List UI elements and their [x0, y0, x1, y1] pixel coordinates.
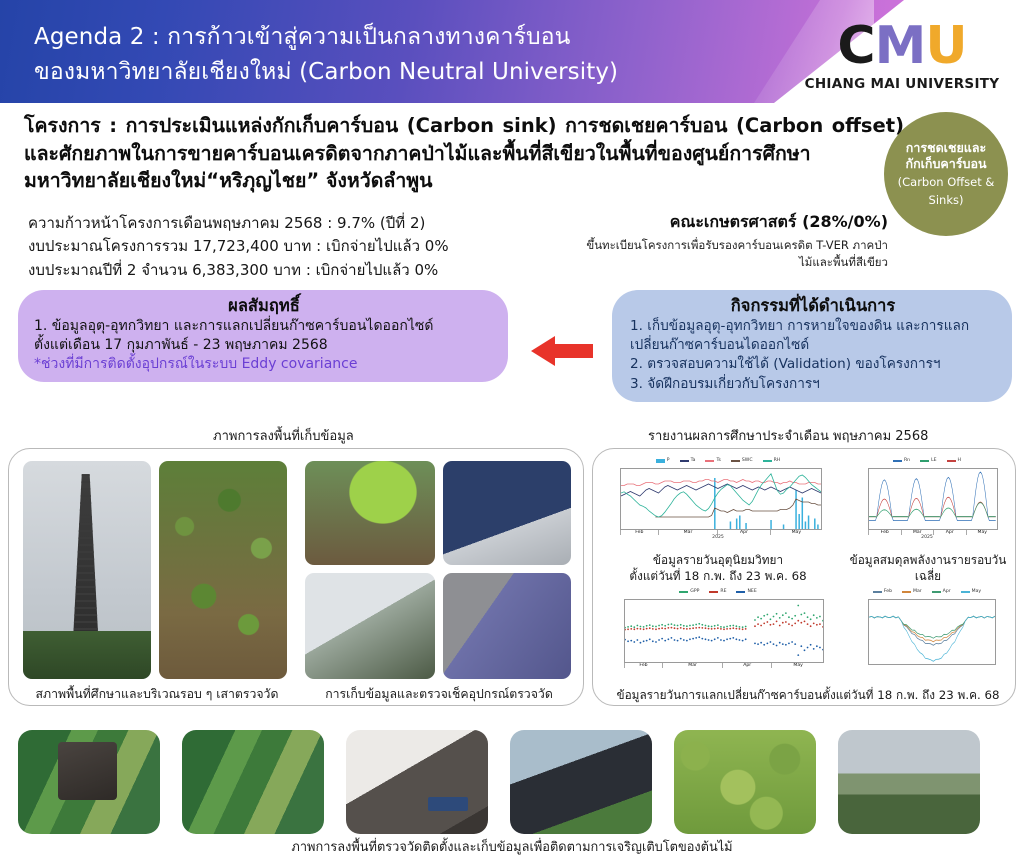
chart4-plot-area	[868, 599, 996, 665]
legend-item-mar: Mar	[902, 589, 922, 594]
photo-laptop-data-logging	[443, 461, 571, 565]
legend-item-may: May	[961, 589, 982, 594]
chart-co2-flux-diurnal: Feb Mar Apr May	[846, 586, 1008, 686]
badge-line-2: กักเก็บคาร์บอน	[906, 156, 987, 173]
chart4-legend: Feb Mar Apr May	[846, 586, 1008, 597]
chart1-caption-line-2: ตั้งแต่วันที่ 18 ก.พ. ถึง 23 พ.ค. 68	[600, 569, 836, 585]
left-panel-caption: ภาพการลงพื้นที่เก็บข้อมูล	[213, 425, 354, 446]
legend-item-feb: Feb	[873, 589, 892, 594]
cmu-logo-subtitle: CHIANG MAI UNIVERSITY	[802, 76, 1002, 92]
photo-eddy-flux-tower	[23, 461, 151, 679]
legend-item-rn: Rn	[893, 458, 910, 463]
legend-item-gpp: GPP	[679, 589, 699, 594]
left-photo-caption-a: สภาพพื้นที่ศึกษาและบริเวณรอบ ๆ เสาตรวจวั…	[15, 685, 299, 704]
photo-solar-panel	[443, 573, 571, 679]
activity-box-line-3: 2. ตรวจสอบความใช้ได้ (Validation) ของโคร…	[630, 355, 996, 374]
legend-item-apr: Apr	[932, 589, 951, 594]
activity-box-heading: กิจกรรมที่ได้ดำเนินการ	[630, 296, 996, 317]
chart-carbon-exchange: GPP RE NEE Feb Mar Apr May	[600, 586, 836, 686]
photo-field-instrument-case	[346, 730, 488, 834]
chart1-caption-line-1: ข้อมูลรายวันอุตุนิยมวิทยา	[600, 553, 836, 569]
header-title-line-2: ของมหาวิทยาลัยเชียงใหม่ (Carbon Neutral …	[34, 55, 794, 90]
page-title: Agenda 2 : การก้าวเข้าสู่ความเป็นกลางทาง…	[34, 20, 794, 90]
photo-field-station-umbrella	[305, 461, 435, 565]
progress-line-2: งบประมาณโครงการรวม 17,723,400 บาท : เบิก…	[28, 235, 508, 258]
legend-item-nee: NEE	[736, 589, 756, 594]
cmu-letter-u: U	[925, 20, 966, 72]
instrument-ports	[428, 797, 468, 812]
photo-green-steel-beam	[182, 730, 324, 834]
photo-forest-floor	[159, 461, 287, 679]
legend-item-h: H	[947, 458, 961, 463]
header-title-line-1: Agenda 2 : การก้าวเข้าสู่ความเป็นกลางทาง…	[34, 20, 794, 55]
chart2-plot-area	[868, 468, 998, 530]
activity-box: กิจกรรมที่ได้ดำเนินการ 1. เก็บข้อมูลอุตุ…	[612, 290, 1012, 402]
faculty-note-line-1: ขึ้นทะเบียนโครงการเพื่อรับรองคาร์บอนเครด…	[516, 237, 888, 254]
photo-technician-on-tower	[510, 730, 652, 834]
legend-item-ts: Ts	[705, 458, 720, 463]
faculty-note-line-2: ไม้และพื้นที่สีเขียว	[516, 254, 888, 271]
chart1-caption: ข้อมูลรายวันอุตุนิยมวิทยา ตั้งแต่วันที่ …	[600, 553, 836, 585]
faculty-title: คณะเกษตรศาสตร์ (28%/0%)	[516, 210, 888, 235]
legend-item-p: P	[656, 458, 670, 463]
progress-line-3: งบประมาณปีที่ 2 จำนวน 6,383,300 บาท : เบ…	[28, 259, 508, 282]
chart2-xlabel: 2025	[846, 535, 1008, 540]
left-photo-caption-b: การเก็บข้อมูลและตรวจเช็คอุปกรณ์ตรวจวัด	[303, 685, 575, 704]
project-progress-block: ความก้าวหน้าโครงการเดือนพฤษภาคม 2568 : 9…	[28, 212, 508, 282]
legend-item-re: RE	[709, 589, 726, 594]
badge-line-3: (Carbon Offset &	[898, 175, 995, 191]
chart3-plot-area	[624, 599, 824, 663]
chart1-plot-area	[620, 468, 822, 530]
left-arrow-icon	[531, 334, 593, 368]
photo-forest-canopy	[674, 730, 816, 834]
result-box-line-2: ตั้งแต่เดือน 17 กุมภาพันธ์ - 23 พฤษภาคม …	[34, 336, 494, 355]
field-photo-panel: สภาพพื้นที่ศึกษาและบริเวณรอบ ๆ เสาตรวจวั…	[8, 448, 584, 706]
chart-meteorology-daily: P Ta Ts SWC RH Feb Mar Apr May 2025	[600, 455, 836, 551]
activity-box-line-2: เปลี่ยนก๊าซคาร์บอนไดออกไซด์	[630, 336, 996, 355]
activity-box-line-1: 1. เก็บข้อมูลอุตุ-อุทกวิทยา การหายใจของด…	[630, 317, 996, 336]
bottom-strip-caption: ภาพการลงพื้นที่ตรวจวัดติดตั้งและเก็บข้อม…	[0, 836, 1024, 857]
activity-box-line-4: 3. จัดฝึกอบรมเกี่ยวกับโครงการฯ	[630, 375, 996, 394]
chart3-caption: ข้อมูลรายวันการแลกเปลี่ยนก๊าซคาร์บอนตั้ง…	[600, 688, 1016, 704]
legend-item-ta: Ta	[680, 458, 696, 463]
chart1-legend: P Ta Ts SWC RH	[600, 455, 836, 466]
right-panel-caption: รายงานผลการศึกษาประจำเดือน พฤษภาคม 2568	[648, 425, 928, 446]
cmu-logo: CMU CHIANG MAI UNIVERSITY	[802, 14, 1002, 92]
chart2-caption-line-1: ข้อมูลสมดุลพลังงานรายรอบวันเฉลี่ย	[840, 553, 1016, 585]
faculty-block: คณะเกษตรศาสตร์ (28%/0%) ขึ้นทะเบียนโครงก…	[516, 210, 888, 270]
project-title: โครงการ : การประเมินแหล่งกักเก็บคาร์บอน …	[24, 112, 904, 195]
tower-treeline	[23, 631, 151, 679]
legend-item-swc: SWC	[731, 458, 753, 463]
camera-trap-body	[58, 742, 118, 799]
legend-item-le: LE	[920, 458, 936, 463]
photo-misty-forest	[838, 730, 980, 834]
status-badge: การชดเชยและ กักเก็บคาร์บอน (Carbon Offse…	[884, 112, 1008, 236]
photo-camera-trap-on-tower	[18, 730, 160, 834]
cmu-letter-m: M	[875, 20, 926, 72]
result-box-heading: ผลสัมฤทธิ์	[34, 296, 494, 317]
result-box-line-3: *ช่วงที่มีการติดตั้งอุปกรณ์ในระบบ Eddy c…	[34, 355, 494, 374]
result-box: ผลสัมฤทธิ์ 1. ข้อมูลอุตุ-อุทกวิทยา และกา…	[18, 290, 508, 382]
faculty-note: ขึ้นทะเบียนโครงการเพื่อรับรองคาร์บอนเครด…	[516, 237, 888, 270]
chart3-legend: GPP RE NEE	[600, 586, 836, 597]
chart-energy-balance: Rn LE H Feb Mar Apr May 2025	[846, 455, 1008, 551]
progress-line-1: ความก้าวหน้าโครงการเดือนพฤษภาคม 2568 : 9…	[28, 212, 508, 235]
chart2-legend: Rn LE H	[846, 455, 1008, 466]
badge-line-4: Sinks)	[929, 193, 964, 209]
result-box-line-1: 1. ข้อมูลอุตุ-อุทกวิทยา และการแลกเปลี่ยน…	[34, 317, 494, 336]
page-header: Agenda 2 : การก้าวเข้าสู่ความเป็นกลางทาง…	[0, 0, 1024, 103]
photo-datalogger-cabinet	[305, 573, 435, 679]
cmu-letter-c: C	[837, 20, 874, 72]
chart1-xlabel: 2025	[600, 535, 836, 540]
cmu-logo-letters: CMU	[802, 14, 1002, 72]
badge-line-1: การชดเชยและ	[906, 140, 986, 157]
legend-item-rh: RH	[763, 458, 781, 463]
